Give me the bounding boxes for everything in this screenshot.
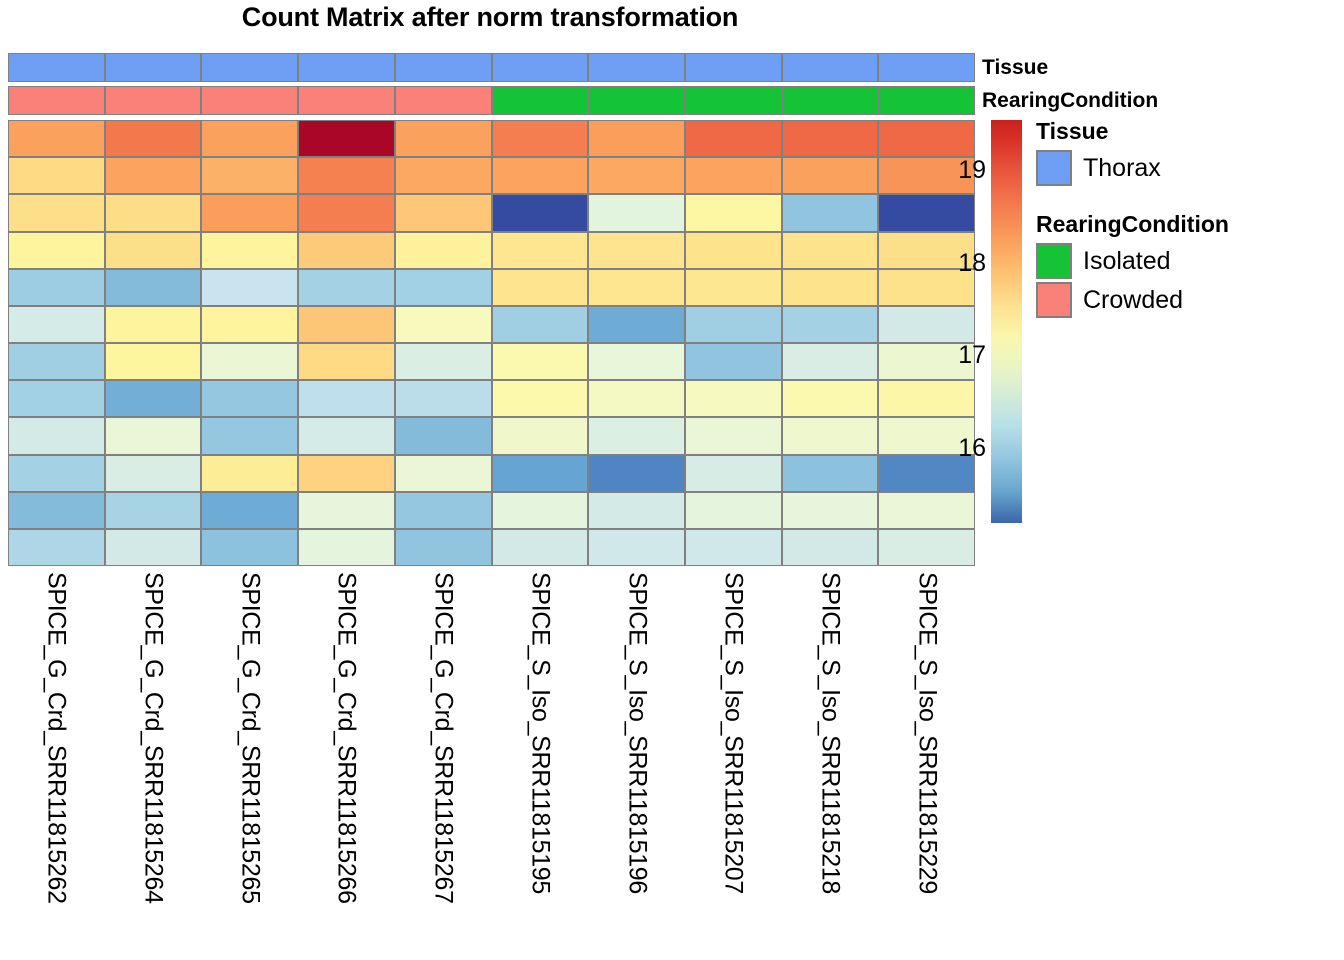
heatmap-cell: [298, 380, 395, 417]
colorbar-tick-label: 19: [958, 158, 986, 183]
heatmap-cell: [588, 455, 685, 492]
column-label: SPICE_S_Iso_SRR11815196: [622, 572, 651, 894]
heatmap-cell: [492, 380, 589, 417]
heatmap-figure: Count Matrix after norm transformation T…: [0, 0, 1344, 960]
column-label-slot: SPICE_G_Crd_SRR11815262: [8, 572, 105, 952]
annotation-label-rearingcondition: RearingCondition: [982, 86, 1158, 115]
heatmap-cell: [492, 492, 589, 529]
annotation-tissue-cell: [782, 53, 879, 82]
column-label-slot: SPICE_G_Crd_SRR11815266: [298, 572, 395, 952]
heatmap-cell: [105, 269, 202, 306]
annotation-bar-tissue: [8, 53, 975, 82]
heatmap-cell: [8, 194, 105, 231]
column-label: SPICE_S_Iso_SRR11815218: [815, 572, 844, 894]
heatmap-cell: [105, 120, 202, 157]
heatmap-cell: [782, 417, 879, 454]
heatmap-cell: [105, 380, 202, 417]
heatmap-row: [8, 306, 975, 343]
heatmap-cell: [395, 269, 492, 306]
heatmap-cell: [298, 492, 395, 529]
heatmap-cell: [395, 380, 492, 417]
heatmap-cell: [588, 157, 685, 194]
annotation-tissue-cell: [878, 53, 975, 82]
heatmap-cell: [685, 380, 782, 417]
annotation-tissue-cell: [492, 53, 589, 82]
heatmap-cell: [8, 120, 105, 157]
heatmap-cell: [782, 269, 879, 306]
annotation-tissue-cell: [8, 53, 105, 82]
heatmap-cell: [105, 492, 202, 529]
heatmap-cell: [8, 232, 105, 269]
heatmap-cell: [588, 194, 685, 231]
heatmap-cell: [201, 120, 298, 157]
heatmap-cell: [201, 157, 298, 194]
heatmap-cell: [298, 120, 395, 157]
legend-title-tissue: Tissue: [1036, 118, 1108, 145]
page-title: Count Matrix after norm transformation: [0, 2, 980, 33]
heatmap-cell: [492, 455, 589, 492]
heatmap-cell: [588, 232, 685, 269]
heatmap-cell: [492, 306, 589, 343]
heatmap-row: [8, 417, 975, 454]
heatmap-cell: [105, 232, 202, 269]
legend-label: Crowded: [1083, 286, 1183, 315]
annotation-tissue-cell: [395, 53, 492, 82]
heatmap-cell: [8, 306, 105, 343]
heatmap-cell: [492, 194, 589, 231]
heatmap-cell: [492, 157, 589, 194]
annotation-tissue-cell: [105, 53, 202, 82]
heatmap-cell: [782, 194, 879, 231]
heatmap-cell: [685, 306, 782, 343]
colorbar-tick-label: 17: [958, 343, 986, 368]
heatmap-cell: [492, 232, 589, 269]
colorbar-tick-label: 16: [958, 436, 986, 461]
heatmap-row: [8, 157, 975, 194]
heatmap-cell: [878, 194, 975, 231]
heatmap-cell: [105, 529, 202, 566]
heatmap-cell: [782, 120, 879, 157]
heatmap-cell: [685, 529, 782, 566]
heatmap-grid: [8, 120, 975, 566]
heatmap-cell: [492, 417, 589, 454]
legend-item[interactable]: Isolated: [1036, 243, 1171, 279]
annotation-rearingcondition-cell: [685, 86, 782, 115]
column-label: SPICE_G_Crd_SRR11815267: [429, 572, 458, 904]
heatmap-cell: [201, 232, 298, 269]
legend-swatch-icon: [1036, 282, 1072, 318]
heatmap-cell: [588, 529, 685, 566]
heatmap-cell: [201, 343, 298, 380]
column-label: SPICE_G_Crd_SRR11815262: [42, 572, 71, 904]
heatmap-cell: [395, 529, 492, 566]
heatmap-cell: [782, 157, 879, 194]
heatmap-cell: [298, 232, 395, 269]
legend-label: Isolated: [1083, 247, 1171, 276]
heatmap-cell: [492, 269, 589, 306]
annotation-rearingcondition-cell: [298, 86, 395, 115]
annotation-rearingcondition-cell: [8, 86, 105, 115]
heatmap-cell: [685, 343, 782, 380]
heatmap-cell: [201, 529, 298, 566]
heatmap-cell: [201, 492, 298, 529]
legend-item[interactable]: Crowded: [1036, 282, 1183, 318]
heatmap-row: [8, 492, 975, 529]
heatmap-cell: [298, 306, 395, 343]
heatmap-cell: [298, 269, 395, 306]
annotation-rearingcondition-cell: [878, 86, 975, 115]
heatmap-cell: [105, 417, 202, 454]
legend-label: Thorax: [1083, 154, 1161, 183]
heatmap-cell: [8, 269, 105, 306]
column-label-slot: SPICE_S_Iso_SRR11815229: [878, 572, 975, 952]
heatmap-cell: [878, 380, 975, 417]
annotation-bar-rearingcondition: [8, 86, 975, 115]
heatmap-cell: [298, 194, 395, 231]
annotation-rearingcondition-cell: [492, 86, 589, 115]
heatmap-cell: [298, 455, 395, 492]
colorbar: [991, 120, 1022, 523]
annotation-tissue-cell: [588, 53, 685, 82]
heatmap-cell: [782, 455, 879, 492]
heatmap-cell: [8, 380, 105, 417]
annotation-rearingcondition-cell: [588, 86, 685, 115]
legend-swatch-icon: [1036, 150, 1072, 186]
column-label: SPICE_S_Iso_SRR11815207: [719, 572, 748, 894]
annotation-rearingcondition-cell: [105, 86, 202, 115]
heatmap-row: [8, 380, 975, 417]
heatmap-cell: [588, 306, 685, 343]
heatmap-cell: [395, 343, 492, 380]
heatmap-cell: [685, 417, 782, 454]
column-label-slot: SPICE_S_Iso_SRR11815207: [685, 572, 782, 952]
heatmap-cell: [8, 529, 105, 566]
column-label: SPICE_S_Iso_SRR11815229: [912, 572, 941, 894]
heatmap-cell: [395, 455, 492, 492]
heatmap-cell: [782, 343, 879, 380]
heatmap-cell: [298, 157, 395, 194]
heatmap-cell: [782, 380, 879, 417]
heatmap-cell: [105, 343, 202, 380]
heatmap-cell: [395, 492, 492, 529]
heatmap-cell: [782, 529, 879, 566]
annotation-tissue-cell: [685, 53, 782, 82]
column-label-slot: SPICE_G_Crd_SRR11815267: [395, 572, 492, 952]
legend-swatch-icon: [1036, 243, 1072, 279]
heatmap-cell: [588, 269, 685, 306]
heatmap-cell: [8, 343, 105, 380]
column-label-slot: SPICE_S_Iso_SRR11815195: [492, 572, 589, 952]
heatmap-row: [8, 529, 975, 566]
annotation-rearingcondition-cell: [395, 86, 492, 115]
heatmap-cell: [201, 269, 298, 306]
heatmap-row: [8, 455, 975, 492]
heatmap-cell: [782, 306, 879, 343]
heatmap-cell: [395, 232, 492, 269]
column-label: SPICE_G_Crd_SRR11815265: [235, 572, 264, 904]
heatmap-cell: [782, 232, 879, 269]
heatmap-cell: [685, 120, 782, 157]
column-label-slot: SPICE_S_Iso_SRR11815196: [588, 572, 685, 952]
heatmap-cell: [878, 492, 975, 529]
annotation-tissue-cell: [298, 53, 395, 82]
heatmap-cell: [588, 417, 685, 454]
heatmap-row: [8, 269, 975, 306]
heatmap-cell: [395, 194, 492, 231]
heatmap-cell: [8, 417, 105, 454]
heatmap-cell: [105, 455, 202, 492]
column-label-slot: SPICE_G_Crd_SRR11815265: [201, 572, 298, 952]
heatmap-cell: [685, 455, 782, 492]
heatmap-row: [8, 194, 975, 231]
heatmap-cell: [8, 157, 105, 194]
heatmap-cell: [298, 529, 395, 566]
heatmap-cell: [685, 157, 782, 194]
heatmap-cell: [588, 492, 685, 529]
heatmap-cell: [685, 492, 782, 529]
heatmap-cell: [588, 120, 685, 157]
heatmap-cell: [298, 417, 395, 454]
heatmap-cell: [298, 343, 395, 380]
heatmap-cell: [685, 194, 782, 231]
heatmap-cell: [685, 269, 782, 306]
heatmap-row: [8, 343, 975, 380]
heatmap-cell: [878, 120, 975, 157]
heatmap-cell: [492, 343, 589, 380]
heatmap-cell: [8, 492, 105, 529]
heatmap-cell: [685, 232, 782, 269]
legend-item[interactable]: Thorax: [1036, 150, 1161, 186]
heatmap-cell: [588, 343, 685, 380]
heatmap-cell: [8, 455, 105, 492]
heatmap-cell: [105, 306, 202, 343]
colorbar-gradient: [991, 120, 1022, 523]
heatmap-cell: [878, 529, 975, 566]
annotation-tissue-cell: [201, 53, 298, 82]
column-label: SPICE_G_Crd_SRR11815266: [332, 572, 361, 904]
colorbar-tick-label: 18: [958, 251, 986, 276]
annotation-label-tissue: Tissue: [982, 53, 1048, 82]
heatmap-cell: [201, 380, 298, 417]
heatmap-cell: [105, 194, 202, 231]
heatmap-cell: [395, 306, 492, 343]
legend-title-rearingcondition: RearingCondition: [1036, 211, 1229, 238]
heatmap-row: [8, 232, 975, 269]
heatmap-cell: [782, 492, 879, 529]
heatmap-cell: [201, 455, 298, 492]
heatmap-cell: [201, 194, 298, 231]
heatmap-cell: [492, 529, 589, 566]
column-label: SPICE_G_Crd_SRR11815264: [139, 572, 168, 904]
column-label-slot: SPICE_G_Crd_SRR11815264: [105, 572, 202, 952]
heatmap-cell: [395, 120, 492, 157]
heatmap-cell: [395, 157, 492, 194]
heatmap-cell: [492, 120, 589, 157]
heatmap-cell: [395, 417, 492, 454]
heatmap-cell: [588, 380, 685, 417]
heatmap-cell: [201, 417, 298, 454]
annotation-rearingcondition-cell: [782, 86, 879, 115]
heatmap-cell: [201, 306, 298, 343]
annotation-rearingcondition-cell: [201, 86, 298, 115]
column-label-slot: SPICE_S_Iso_SRR11815218: [782, 572, 879, 952]
heatmap-cell: [105, 157, 202, 194]
column-label-axis: SPICE_G_Crd_SRR11815262SPICE_G_Crd_SRR11…: [8, 572, 975, 952]
column-label: SPICE_S_Iso_SRR11815195: [525, 572, 554, 894]
heatmap-row: [8, 120, 975, 157]
heatmap-cell: [878, 306, 975, 343]
